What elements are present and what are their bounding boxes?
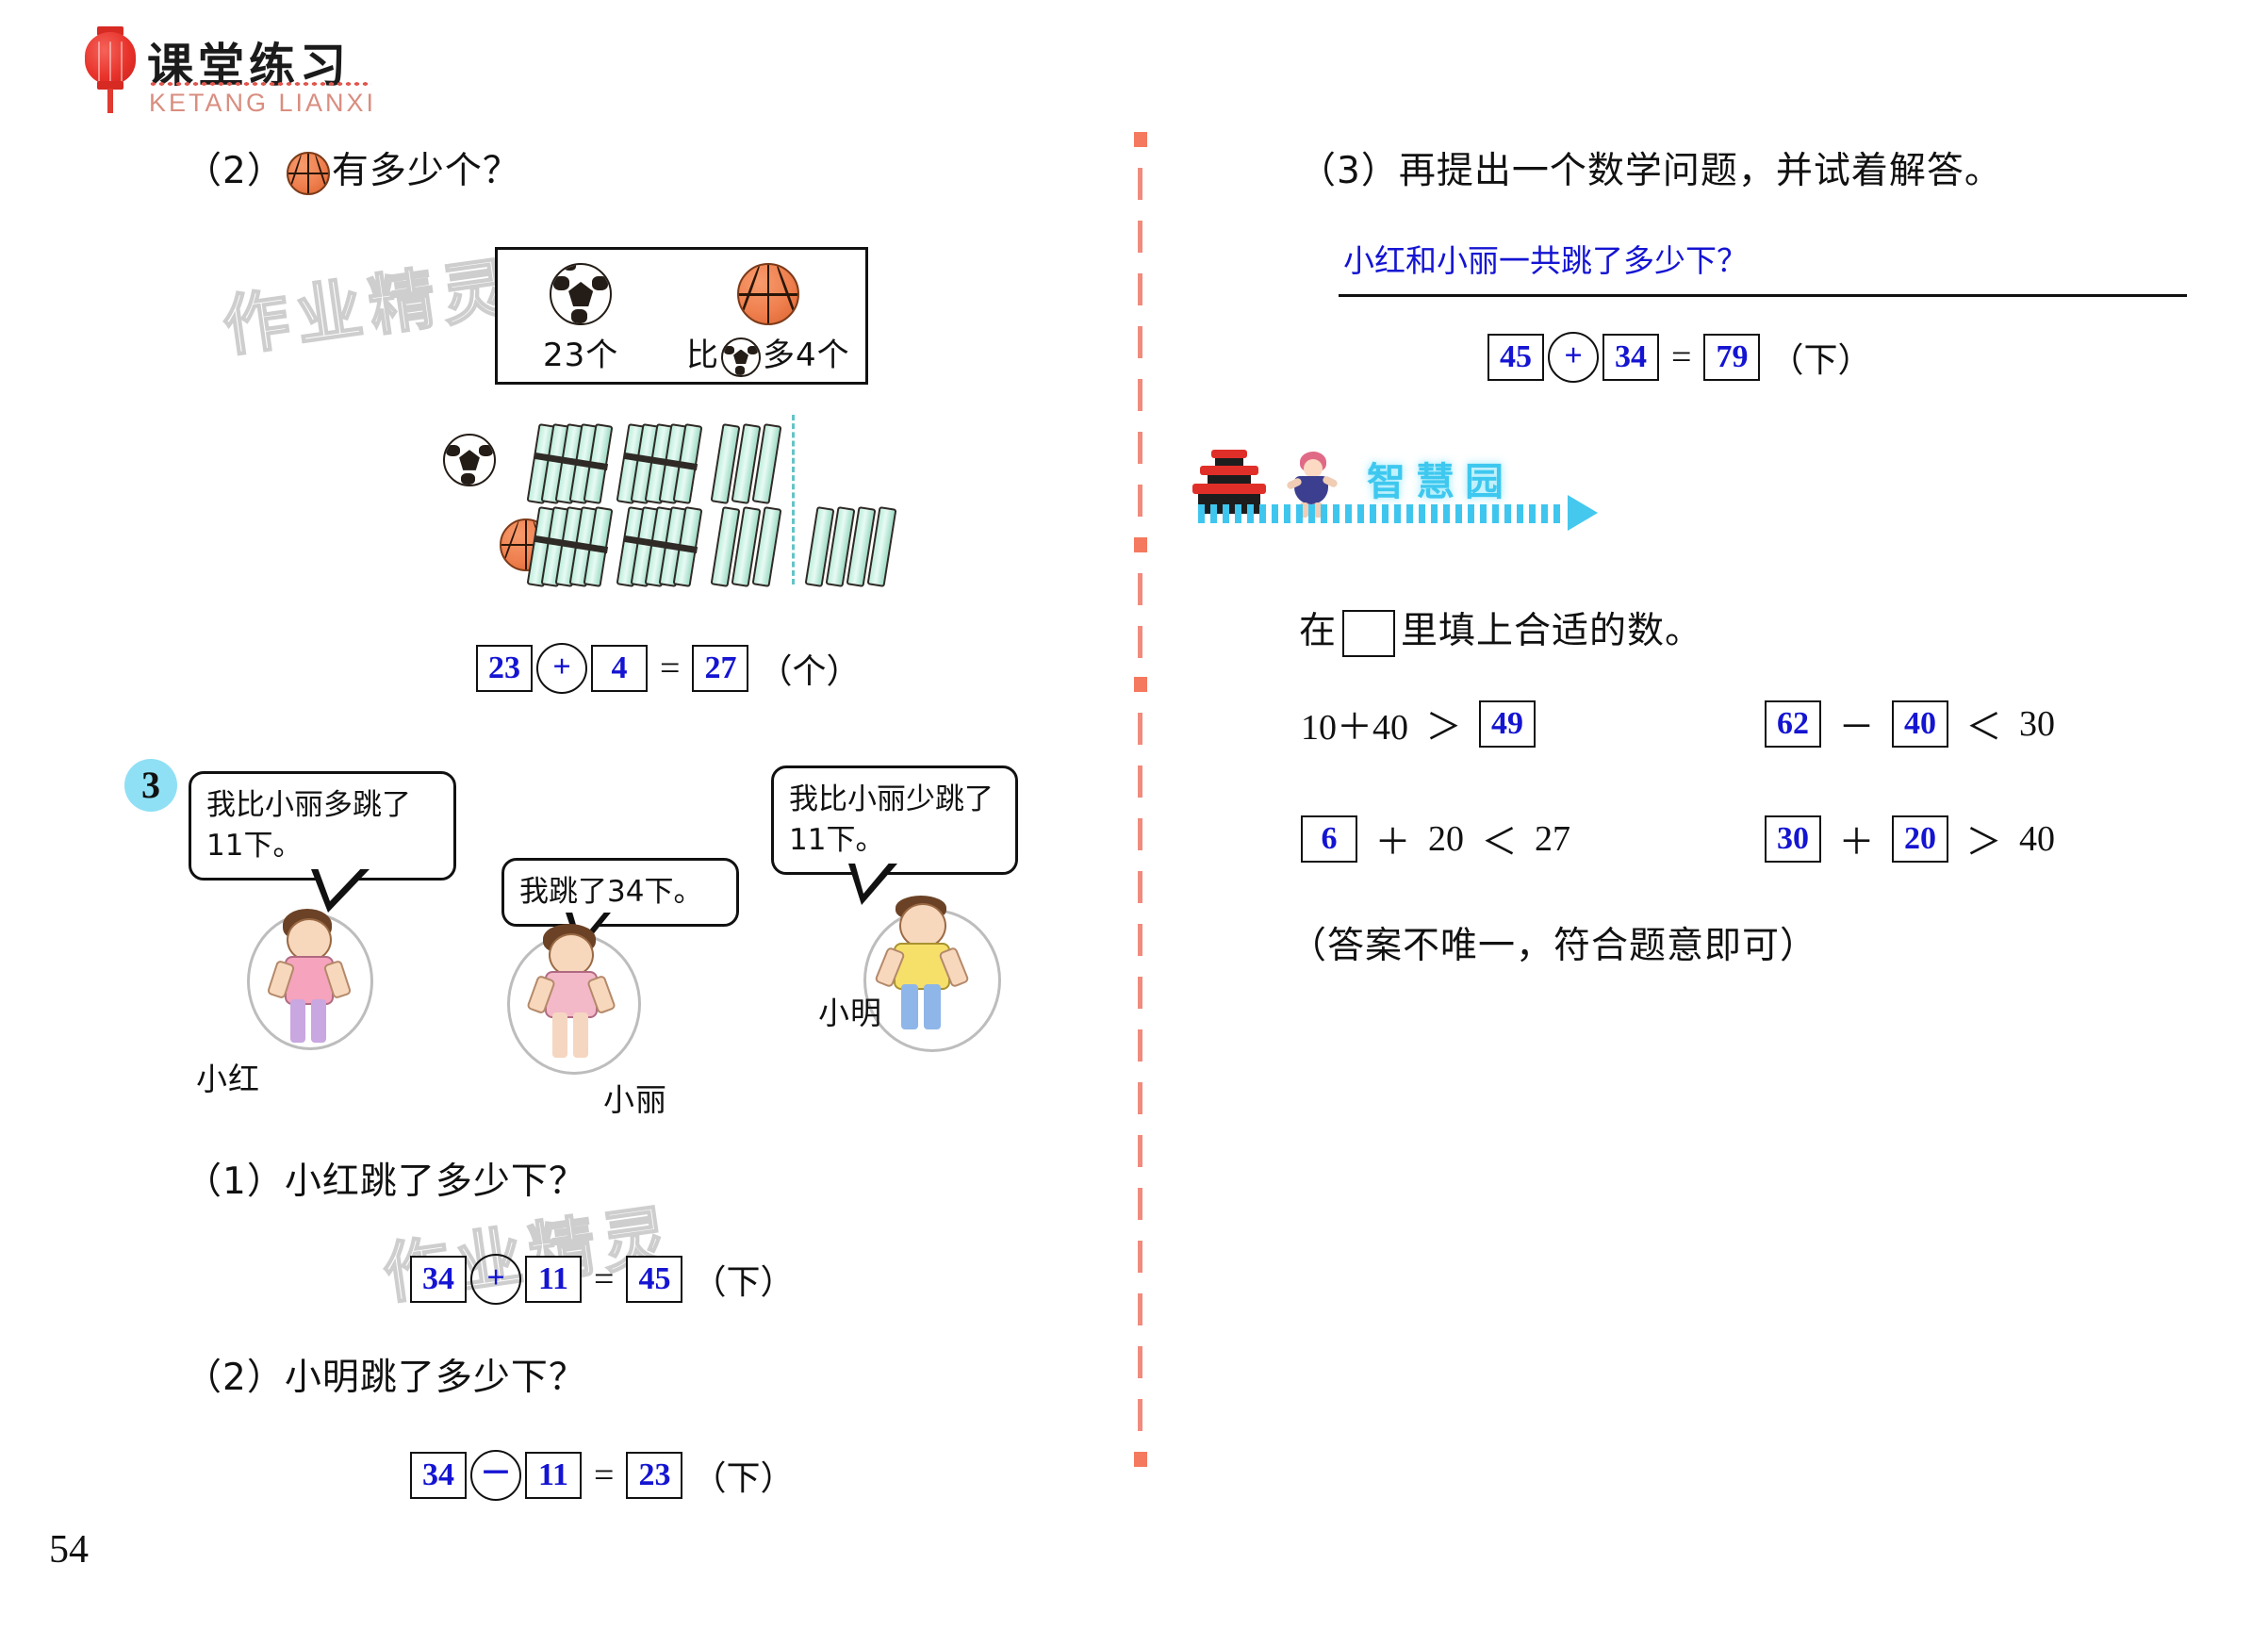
info-box-basket-label: 比 多4个 bbox=[686, 329, 850, 377]
fill-4-op: ＋ bbox=[1831, 813, 1883, 864]
fill-3-op: ＋ bbox=[1367, 813, 1420, 864]
soccer-ball-icon bbox=[443, 434, 496, 486]
part3-result[interactable]: 79 bbox=[1703, 334, 1760, 381]
instruction-after: 里填上合适的数。 bbox=[1401, 610, 1702, 652]
fill-4-cmp: ＞ bbox=[1958, 813, 2011, 864]
label-xiaoli: 小丽 bbox=[603, 1075, 667, 1120]
instruction-before: 在 bbox=[1299, 610, 1337, 652]
bubble-tail-inner bbox=[854, 860, 892, 894]
instruction-blank-box bbox=[1342, 610, 1395, 657]
fill-instruction: 在里填上合适的数。 bbox=[1299, 601, 1702, 657]
fill-1-box[interactable]: 49 bbox=[1479, 700, 1536, 748]
part3-equals: = bbox=[1663, 337, 1700, 378]
speech-bubble-xiaohong: 我比小丽多跳了11下。 bbox=[189, 771, 456, 881]
sub1-operand-a[interactable]: 34 bbox=[410, 1256, 467, 1303]
info-box: 23个 比 多4个 bbox=[495, 247, 868, 385]
sticks-divider bbox=[792, 415, 795, 584]
question-2-label: （2） bbox=[185, 150, 285, 192]
question-2-line: （2） 有多少个？ bbox=[185, 141, 520, 195]
q2-operand-a[interactable]: 23 bbox=[476, 645, 533, 692]
q2-operand-b[interactable]: 4 bbox=[591, 645, 648, 692]
sub2-equals: = bbox=[585, 1455, 622, 1496]
q3-part3-label: （3）再提出一个数学问题，并试着解答。 bbox=[1299, 141, 2002, 194]
banner-title: 智慧园 bbox=[1367, 450, 1514, 506]
part3-unit: （下） bbox=[1764, 333, 1871, 382]
fill-4-box-a[interactable]: 30 bbox=[1765, 815, 1821, 863]
figure-xiaoli bbox=[515, 924, 637, 1075]
label-xiaohong: 小红 bbox=[196, 1054, 260, 1099]
soccer-ball-icon bbox=[721, 337, 761, 377]
sub1-operand-b[interactable]: 11 bbox=[525, 1256, 582, 1303]
bubble-text: 我跳了34下。 bbox=[519, 875, 702, 909]
label-xiaoming: 小明 bbox=[818, 988, 882, 1033]
q2-equals: = bbox=[651, 648, 688, 689]
question-2-text: 有多少个？ bbox=[332, 150, 520, 192]
banner-tick-line bbox=[1198, 504, 1566, 523]
fill-2-op: － bbox=[1831, 698, 1883, 749]
speech-bubble-xiaoli: 我跳了34下。 bbox=[501, 858, 739, 927]
part3-operand-a[interactable]: 45 bbox=[1487, 334, 1544, 381]
page-number-dot bbox=[87, 1548, 128, 1589]
logo-divider-dots bbox=[149, 81, 371, 87]
fill-4-box-b[interactable]: 20 bbox=[1892, 815, 1948, 863]
sub1-result[interactable]: 45 bbox=[626, 1256, 682, 1303]
compare-word: 比 bbox=[686, 337, 719, 374]
fill-1-static: 10＋40 bbox=[1301, 698, 1408, 749]
fill-2-cmp: ＜ bbox=[1958, 698, 2011, 749]
q2-unit: （个） bbox=[752, 644, 860, 693]
sub2-unit: （下） bbox=[686, 1451, 794, 1500]
fill-item-4: 30 ＋ 20 ＞ 40 bbox=[1765, 813, 2055, 864]
arrow-right-icon bbox=[1568, 495, 1598, 531]
q2-operator[interactable]: + bbox=[536, 643, 587, 694]
fill-2-box-b[interactable]: 40 bbox=[1892, 700, 1948, 748]
bubble-text: 我比小丽多跳了11下。 bbox=[206, 788, 411, 863]
sub1-operator[interactable]: + bbox=[470, 1254, 521, 1305]
fill-item-2: 62 － 40 ＜ 30 bbox=[1765, 698, 2055, 749]
header-logo: 课堂练习 KETANG LIANXI bbox=[81, 21, 383, 124]
sub2-result[interactable]: 23 bbox=[626, 1452, 682, 1499]
page-number: 54 bbox=[49, 1527, 89, 1572]
q3-sub2-equation: 34 － 11 = 23 （下） bbox=[410, 1450, 794, 1501]
bubble-text: 我比小丽少跳了11下。 bbox=[789, 782, 994, 857]
compare-amount: 多4个 bbox=[763, 337, 850, 374]
sub2-operand-b[interactable]: 11 bbox=[525, 1452, 582, 1499]
sub1-unit: （下） bbox=[686, 1255, 794, 1304]
fill-3-box[interactable]: 6 bbox=[1301, 815, 1357, 863]
fill-3-static-num: 20 bbox=[1428, 818, 1464, 860]
fill-3-cmp: ＜ bbox=[1473, 813, 1526, 864]
fill-3-static: 27 bbox=[1535, 818, 1570, 860]
speech-bubble-xiaoming: 我比小丽少跳了11下。 bbox=[771, 765, 1018, 875]
fill-1-cmp: ＞ bbox=[1418, 698, 1471, 749]
q3-part3-equation: 45 + 34 = 79 （下） bbox=[1487, 332, 1871, 383]
basketball-icon bbox=[287, 152, 330, 195]
column-divider bbox=[1134, 132, 1147, 1490]
q3-part3-answer-question[interactable]: 小红和小丽一共跳了多少下？ bbox=[1343, 236, 1748, 281]
fill-item-1: 10＋40 ＞ 49 bbox=[1301, 698, 1536, 749]
q3-sub1-equation: 34 + 11 = 45 （下） bbox=[410, 1254, 794, 1305]
q2-result[interactable]: 27 bbox=[692, 645, 748, 692]
fill-item-3: 6 ＋ 20 ＜ 27 bbox=[1301, 813, 1570, 864]
fill-4-static: 40 bbox=[2019, 818, 2055, 860]
sticks-diagram bbox=[443, 424, 914, 594]
q2-equation: 23 + 4 = 27 （个） bbox=[476, 643, 860, 694]
q3-sub2-label: （2）小明跳了多少下？ bbox=[185, 1348, 586, 1401]
logo-pinyin: KETANG LIANXI bbox=[149, 89, 376, 118]
figure-xiaoming bbox=[867, 896, 999, 1056]
info-box-soccer-label: 23个 bbox=[543, 329, 618, 375]
lantern-icon bbox=[81, 25, 140, 115]
part3-operand-b[interactable]: 34 bbox=[1602, 334, 1659, 381]
basketball-icon bbox=[737, 263, 799, 325]
soccer-ball-icon bbox=[550, 263, 612, 325]
answer-underline bbox=[1339, 294, 2187, 297]
sub1-equals: = bbox=[585, 1259, 622, 1300]
sub2-operand-a[interactable]: 34 bbox=[410, 1452, 467, 1499]
part3-operator[interactable]: + bbox=[1548, 332, 1599, 383]
bubble-tail-inner bbox=[317, 865, 364, 901]
figure-xiaohong bbox=[253, 907, 375, 1058]
q3-sub1-label: （1）小红跳了多少下？ bbox=[185, 1152, 586, 1205]
fill-2-static: 30 bbox=[2019, 703, 2055, 745]
fill-2-box-a[interactable]: 62 bbox=[1765, 700, 1821, 748]
problem-number-3: 3 bbox=[124, 759, 177, 812]
zhihuiyuan-banner: 智慧园 bbox=[1192, 446, 1617, 540]
fill-note: （答案不唯一，符合题意即可） bbox=[1290, 916, 1817, 969]
watermark: 作业精灵 bbox=[216, 235, 520, 370]
sub2-operator[interactable]: － bbox=[470, 1450, 521, 1501]
